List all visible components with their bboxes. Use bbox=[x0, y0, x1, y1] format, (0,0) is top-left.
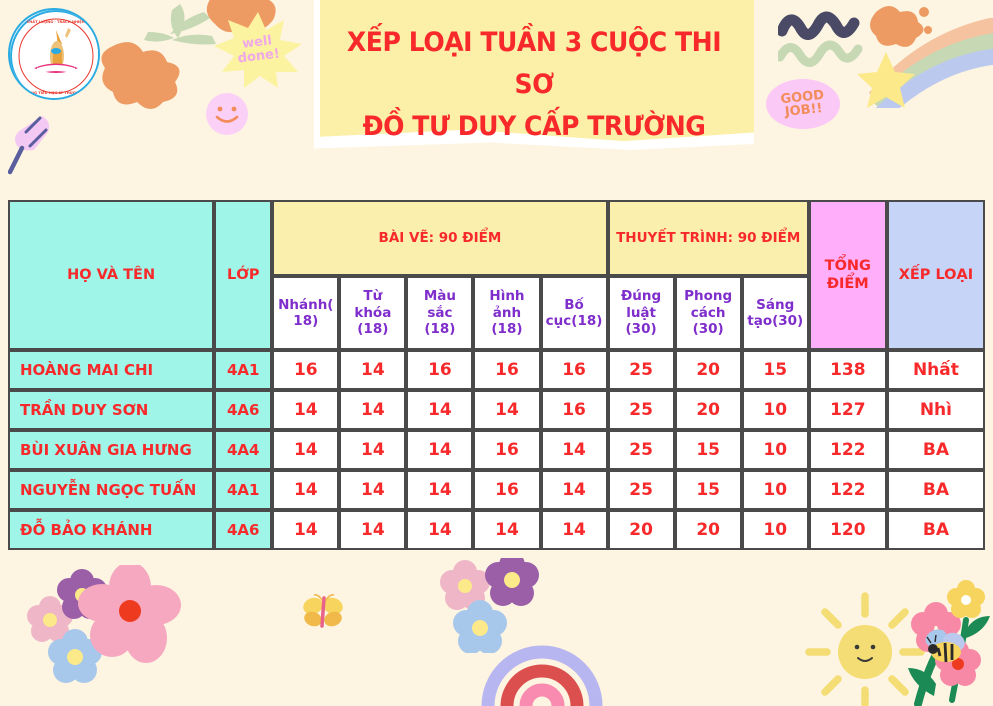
subheader-rules: Đúng luật (30) bbox=[608, 276, 675, 350]
orange-splat-decoration bbox=[95, 28, 205, 113]
header-total: TỔNG ĐIỂM bbox=[809, 200, 887, 350]
header-rank: XẾP LOẠI bbox=[887, 200, 985, 350]
cell-score: 14 bbox=[541, 510, 608, 550]
title-banner: XẾP LOẠI TUẦN 3 CUỘC THI SƠ ĐỒ TƯ DUY CẤ… bbox=[314, 0, 754, 150]
cell-score: 15 bbox=[742, 350, 809, 390]
table-row: HOÀNG MAI CHI4A11614161616252015138Nhất bbox=[8, 350, 985, 390]
cell-rank: Nhì bbox=[887, 390, 985, 430]
svg-text:CHẤT LƯỢNG · TRÁCH NHIỆM: CHẤT LƯỢNG · TRÁCH NHIỆM bbox=[27, 19, 86, 24]
rainbow-trail-decoration bbox=[865, 18, 993, 108]
cell-score: 16 bbox=[541, 390, 608, 430]
cell-score: 20 bbox=[675, 350, 742, 390]
flowers-bottom-center-decoration bbox=[440, 558, 550, 653]
results-table-container: HỌ VÀ TÊN LỚP BÀI VẼ: 90 ĐIỂM THUYẾT TRÌ… bbox=[8, 200, 985, 550]
cell-score: 10 bbox=[742, 390, 809, 430]
cell-score: 14 bbox=[339, 430, 406, 470]
cell-score: 16 bbox=[541, 350, 608, 390]
page-title: XẾP LOẠI TUẦN 3 CUỘC THI SƠ ĐỒ TƯ DUY CẤ… bbox=[339, 22, 730, 148]
cell-score: 20 bbox=[675, 510, 742, 550]
title-line-2: ĐỒ TƯ DUY CẤP TRƯỜNG bbox=[339, 106, 730, 148]
cell-score: 25 bbox=[608, 350, 675, 390]
cell-score: 10 bbox=[742, 510, 809, 550]
butterfly-icon bbox=[300, 592, 348, 634]
good-job-text: GOOD JOB!! bbox=[762, 74, 843, 134]
cell-student-class: 4A6 bbox=[214, 510, 272, 550]
cell-score: 14 bbox=[473, 510, 540, 550]
cell-score: 16 bbox=[473, 470, 540, 510]
cell-score: 16 bbox=[406, 350, 473, 390]
svg-text:TRƯỜNG TIỂU HỌC LÝ THƯỜNG KIỆT: TRƯỜNG TIỂU HỌC LÝ THƯỜNG KIỆT bbox=[20, 90, 93, 95]
cell-total-score: 120 bbox=[809, 510, 887, 550]
cell-score: 15 bbox=[675, 470, 742, 510]
subheader-image: Hình ảnh (18) bbox=[473, 276, 540, 350]
cell-score: 14 bbox=[541, 470, 608, 510]
orange-blob-decoration bbox=[205, 0, 285, 45]
cell-student-class: 4A4 bbox=[214, 430, 272, 470]
flowers-bee-decoration bbox=[900, 580, 993, 706]
cell-rank: Nhất bbox=[887, 350, 985, 390]
header-name: HỌ VÀ TÊN bbox=[8, 200, 214, 350]
well-done-sticker: well done! bbox=[212, 10, 304, 90]
orange-splat-right-decoration bbox=[862, 2, 932, 52]
rainbow-bottom-decoration bbox=[478, 610, 606, 706]
squiggle-decoration bbox=[778, 5, 898, 75]
cell-student-name: BÙI XUÂN GIA HƯNG bbox=[8, 430, 214, 470]
poster-page: CHẤT LƯỢNG · TRÁCH NHIỆM TRƯỜNG TIỂU HỌC… bbox=[0, 0, 993, 706]
cell-score: 25 bbox=[608, 390, 675, 430]
cell-score: 14 bbox=[339, 470, 406, 510]
results-table: HỌ VÀ TÊN LỚP BÀI VẼ: 90 ĐIỂM THUYẾT TRÌ… bbox=[8, 200, 985, 550]
cell-score: 14 bbox=[406, 390, 473, 430]
cell-rank: BA bbox=[887, 510, 985, 550]
subheader-keyword: Từ khóa (18) bbox=[339, 276, 406, 350]
cell-score: 14 bbox=[272, 510, 339, 550]
cell-score: 14 bbox=[272, 390, 339, 430]
cell-student-class: 4A1 bbox=[214, 470, 272, 510]
cell-total-score: 122 bbox=[809, 430, 887, 470]
cell-score: 15 bbox=[675, 430, 742, 470]
cell-score: 20 bbox=[675, 390, 742, 430]
cell-student-name: HOÀNG MAI CHI bbox=[8, 350, 214, 390]
cell-score: 14 bbox=[473, 390, 540, 430]
table-header-row-groups: HỌ VÀ TÊN LỚP BÀI VẼ: 90 ĐIỂM THUYẾT TRÌ… bbox=[8, 200, 985, 276]
subheader-color: Màu sắc (18) bbox=[406, 276, 473, 350]
table-body: HOÀNG MAI CHI4A11614161616252015138NhấtT… bbox=[8, 350, 985, 550]
cell-student-name: ĐỖ BẢO KHÁNH bbox=[8, 510, 214, 550]
cell-student-name: TRẦN DUY SƠN bbox=[8, 390, 214, 430]
cell-rank: BA bbox=[887, 470, 985, 510]
cell-score: 25 bbox=[608, 470, 675, 510]
table-row: TRẦN DUY SƠN4A61414141416252010127Nhì bbox=[8, 390, 985, 430]
cell-total-score: 138 bbox=[809, 350, 887, 390]
subheader-layout: Bố cục(18) bbox=[541, 276, 608, 350]
cell-score: 16 bbox=[473, 350, 540, 390]
cell-student-class: 4A6 bbox=[214, 390, 272, 430]
title-line-1: XẾP LOẠI TUẦN 3 CUỘC THI SƠ bbox=[339, 22, 730, 106]
header-class: LỚP bbox=[214, 200, 272, 350]
cell-score: 16 bbox=[272, 350, 339, 390]
subheader-creativity: Sáng tạo(30) bbox=[742, 276, 809, 350]
cell-student-name: NGUYỄN NGỌC TUẤN bbox=[8, 470, 214, 510]
cell-score: 14 bbox=[406, 470, 473, 510]
cell-score: 14 bbox=[272, 430, 339, 470]
cell-total-score: 127 bbox=[809, 390, 887, 430]
cell-score: 10 bbox=[742, 430, 809, 470]
cell-score: 16 bbox=[473, 430, 540, 470]
pushpin-icon bbox=[8, 110, 68, 180]
cell-score: 14 bbox=[406, 430, 473, 470]
header-group-drawing: BÀI VẼ: 90 ĐIỂM bbox=[272, 200, 607, 276]
cell-score: 20 bbox=[608, 510, 675, 550]
cell-score: 14 bbox=[339, 510, 406, 550]
sun-icon bbox=[805, 590, 925, 706]
cell-score: 25 bbox=[608, 430, 675, 470]
header-group-presentation: THUYẾT TRÌNH: 90 ĐIỂM bbox=[608, 200, 809, 276]
school-logo: CHẤT LƯỢNG · TRÁCH NHIỆM TRƯỜNG TIỂU HỌC… bbox=[8, 8, 100, 100]
subheader-branch: Nhánh( 18) bbox=[272, 276, 339, 350]
flowers-bottom-left-decoration bbox=[20, 565, 240, 695]
cell-rank: BA bbox=[887, 430, 985, 470]
cell-score: 14 bbox=[406, 510, 473, 550]
cell-score: 14 bbox=[272, 470, 339, 510]
subheader-style: Phong cách (30) bbox=[675, 276, 742, 350]
table-row: ĐỖ BẢO KHÁNH4A61414141414202010120BA bbox=[8, 510, 985, 550]
cell-student-class: 4A1 bbox=[214, 350, 272, 390]
cell-total-score: 122 bbox=[809, 470, 887, 510]
cell-score: 14 bbox=[541, 430, 608, 470]
cell-score: 14 bbox=[339, 350, 406, 390]
good-job-sticker: GOOD JOB!! bbox=[765, 78, 841, 130]
well-done-text: well done! bbox=[207, 5, 308, 96]
table-row: NGUYỄN NGỌC TUẤN4A11414141614251510122BA bbox=[8, 470, 985, 510]
table-row: BÙI XUÂN GIA HƯNG4A41414141614251510122B… bbox=[8, 430, 985, 470]
cell-score: 14 bbox=[339, 390, 406, 430]
cell-score: 10 bbox=[742, 470, 809, 510]
smiley-face-icon bbox=[205, 92, 249, 136]
leaf-decoration bbox=[128, 2, 224, 64]
table-head: HỌ VÀ TÊN LỚP BÀI VẼ: 90 ĐIỂM THUYẾT TRÌ… bbox=[8, 200, 985, 350]
yellow-star-icon bbox=[855, 50, 917, 110]
